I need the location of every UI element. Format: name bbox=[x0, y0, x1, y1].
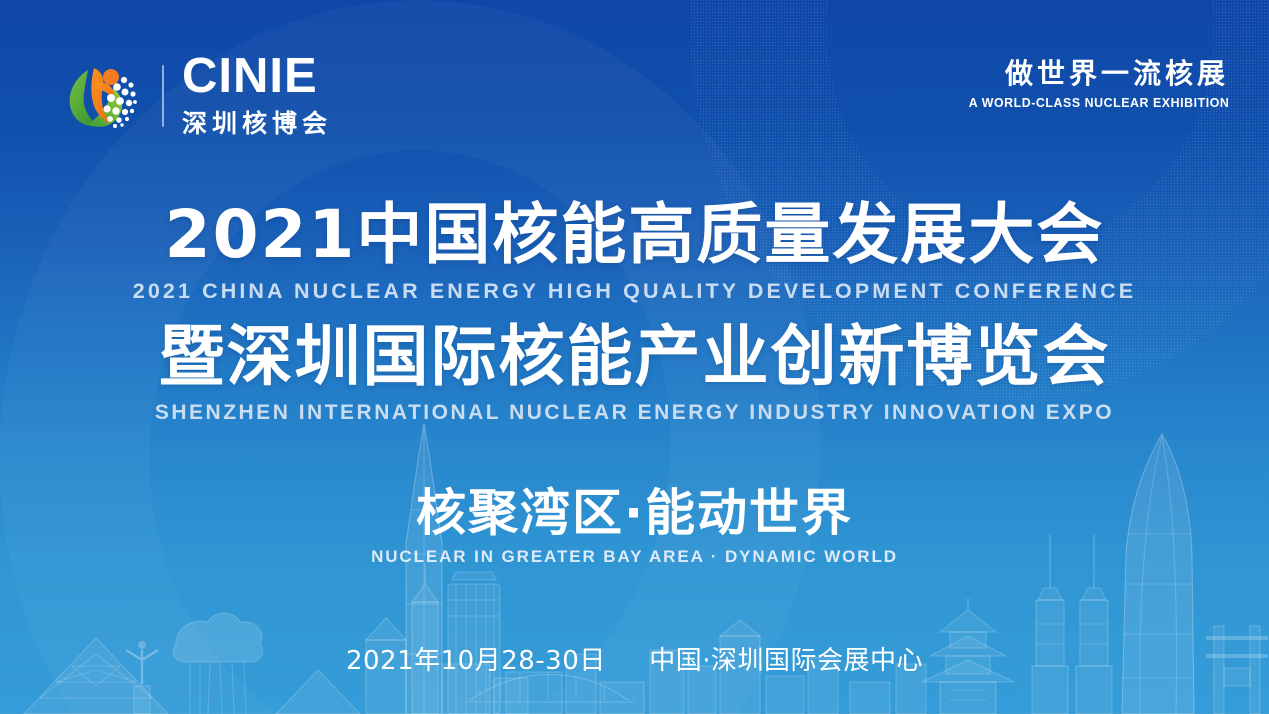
building bbox=[366, 640, 406, 714]
title-block: 2021中国核能高质量发展大会 2021 CHINA NUCLEAR ENERG… bbox=[0, 198, 1269, 425]
brand-logo: CINIE 深圳核博会 bbox=[58, 52, 332, 140]
logo-wordmark-group: CINIE 深圳核博会 bbox=[182, 52, 332, 140]
gate-icon bbox=[1206, 626, 1268, 714]
conference-banner: CINIE 深圳核博会 做世界一流核展 A WORLD-CLASS NUCLEA… bbox=[0, 0, 1269, 714]
small-pyramid-icon bbox=[276, 670, 360, 714]
title-line1-en: 2021 CHINA NUCLEAR ENERGY HIGH QUALITY D… bbox=[0, 279, 1269, 304]
building bbox=[766, 676, 804, 714]
tagline-en: A WORLD-CLASS NUCLEAR EXHIBITION bbox=[968, 95, 1229, 110]
building bbox=[688, 666, 716, 714]
banyan-tree-icon bbox=[173, 613, 263, 714]
building bbox=[808, 658, 838, 714]
building bbox=[506, 672, 562, 714]
building bbox=[850, 682, 890, 714]
title-line2-group: 暨深圳国际核能产业创新博览会 SHENZHEN INTERNATIONAL NU… bbox=[0, 320, 1269, 425]
logo-wordmark-cn: 深圳核博会 bbox=[182, 104, 332, 140]
tagline-block: 做世界一流核展 A WORLD-CLASS NUCLEAR EXHIBITION bbox=[955, 58, 1229, 110]
building bbox=[566, 654, 596, 714]
logo-divider bbox=[162, 65, 164, 127]
tagline-cn: 做世界一流核展 bbox=[955, 58, 1229, 90]
drum-tower-icon bbox=[448, 572, 500, 714]
title-line1-cn: 2021中国核能高质量发展大会 bbox=[0, 198, 1269, 272]
building bbox=[896, 664, 926, 714]
building bbox=[720, 636, 760, 714]
logo-wordmark: CINIE bbox=[182, 52, 332, 100]
twisting-tower-icon bbox=[1122, 434, 1194, 714]
cinie-emblem-icon bbox=[58, 54, 142, 138]
pagoda-icon bbox=[922, 598, 1014, 714]
spire-tower-icon bbox=[406, 424, 442, 714]
title-line2-cn: 暨深圳国际核能产业创新博览会 bbox=[0, 320, 1269, 394]
twin-towers-icon bbox=[1032, 534, 1112, 714]
building bbox=[650, 650, 684, 714]
city-skyline-illustration bbox=[0, 414, 1269, 714]
